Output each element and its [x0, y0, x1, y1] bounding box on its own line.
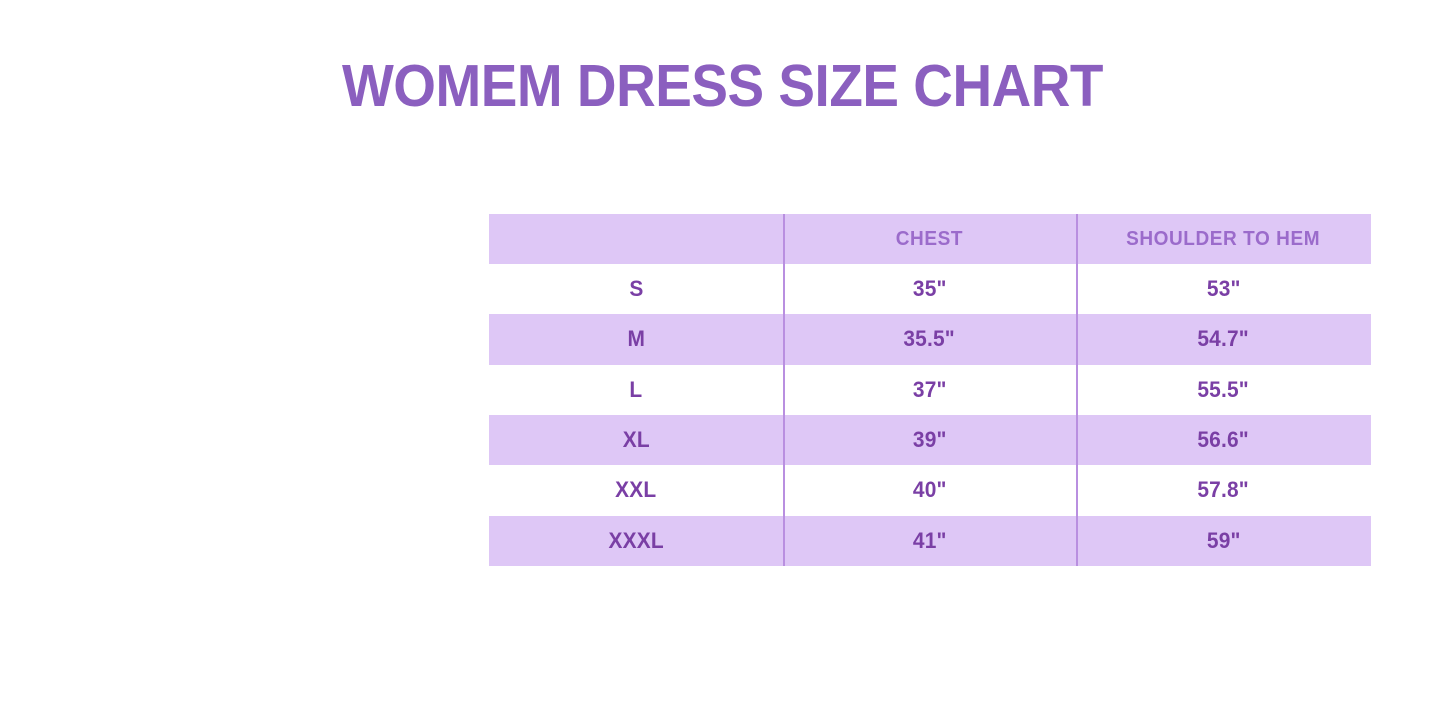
size-chart-table-container: CHEST SHOULDER TO HEM S 35" 53" — [489, 214, 1371, 566]
table-row: XXXL 41" 59" — [489, 516, 1371, 566]
cell-chest: 40" — [783, 465, 1076, 515]
table-row: L 37" 55.5" — [489, 365, 1371, 415]
table-body: S 35" 53" M 35.5" 54.7" — [489, 264, 1371, 566]
chest-value: 35.5" — [904, 326, 956, 352]
header-cell-chest: CHEST — [783, 214, 1076, 264]
page-title: WOMEM DRESS SIZE CHART — [51, 56, 1395, 118]
size-label: M — [627, 326, 645, 352]
cell-chest: 41" — [783, 516, 1076, 566]
cell-size: S — [489, 264, 783, 314]
shoulder-to-hem-value: 54.7" — [1198, 326, 1250, 352]
table-header: CHEST SHOULDER TO HEM — [489, 214, 1371, 264]
table-header-row: CHEST SHOULDER TO HEM — [489, 214, 1371, 264]
shoulder-to-hem-value: 55.5" — [1198, 377, 1250, 403]
cell-chest: 35.5" — [783, 314, 1076, 364]
chest-value: 37" — [913, 377, 947, 403]
shoulder-to-hem-value: 53" — [1207, 276, 1241, 302]
header-cell-shoulder-to-hem: SHOULDER TO HEM — [1076, 214, 1371, 264]
size-label: XL — [622, 427, 649, 453]
size-chart-table: CHEST SHOULDER TO HEM S 35" 53" — [489, 214, 1371, 566]
chest-value: 41" — [913, 528, 947, 554]
size-label: XXXL — [608, 528, 663, 554]
table-row: XL 39" 56.6" — [489, 415, 1371, 465]
header-label-shoulder-to-hem: SHOULDER TO HEM — [1126, 228, 1320, 251]
chest-value: 35" — [913, 276, 947, 302]
cell-chest: 37" — [783, 365, 1076, 415]
cell-size: XL — [489, 415, 783, 465]
cell-size: M — [489, 314, 783, 364]
size-label: L — [630, 377, 643, 403]
table-row: S 35" 53" — [489, 264, 1371, 314]
cell-shoulder-to-hem: 59" — [1076, 516, 1371, 566]
table-row: XXL 40" 57.8" — [489, 465, 1371, 515]
size-label: XXL — [615, 477, 656, 503]
cell-size: L — [489, 365, 783, 415]
cell-shoulder-to-hem: 55.5" — [1076, 365, 1371, 415]
chest-value: 39" — [913, 427, 947, 453]
size-label: S — [629, 276, 643, 302]
cell-shoulder-to-hem: 56.6" — [1076, 415, 1371, 465]
chest-value: 40" — [913, 477, 947, 503]
header-cell-size — [489, 214, 783, 264]
cell-shoulder-to-hem: 57.8" — [1076, 465, 1371, 515]
cell-chest: 35" — [783, 264, 1076, 314]
shoulder-to-hem-value: 56.6" — [1198, 427, 1250, 453]
table-row: M 35.5" 54.7" — [489, 314, 1371, 364]
shoulder-to-hem-value: 57.8" — [1198, 477, 1250, 503]
cell-chest: 39" — [783, 415, 1076, 465]
cell-size: XXL — [489, 465, 783, 515]
shoulder-to-hem-value: 59" — [1207, 528, 1241, 554]
header-label-chest: CHEST — [896, 228, 963, 251]
cell-shoulder-to-hem: 54.7" — [1076, 314, 1371, 364]
cell-size: XXXL — [489, 516, 783, 566]
cell-shoulder-to-hem: 53" — [1076, 264, 1371, 314]
